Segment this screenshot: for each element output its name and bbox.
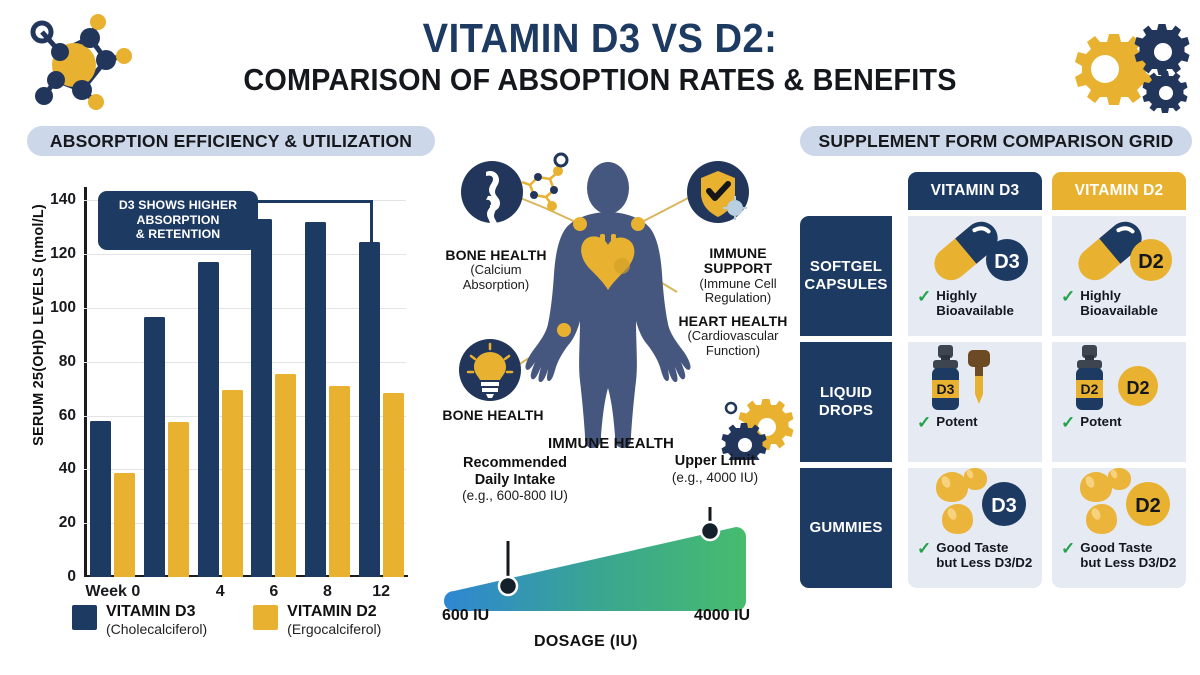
grid-row-label-line1: SOFTGEL	[810, 258, 882, 275]
label-bone-health-calcium: BONE HEALTH (Calcium Absorption)	[426, 248, 566, 292]
grid-cell-note: ✓Good Tastebut Less D3/D2	[1052, 540, 1176, 570]
section-header-grid: SUPPLEMENT FORM COMPARISON GRID	[800, 126, 1192, 156]
bar-d2	[383, 393, 404, 577]
callout-line-3: & RETENTION	[104, 227, 252, 242]
lightbulb-icon	[459, 339, 521, 401]
bar-d2	[329, 386, 350, 577]
dropper-bottle-icon: D3	[908, 342, 1042, 416]
bar-d3	[198, 262, 219, 577]
legend-sublabel-d2: (Ergocalciferol)	[287, 621, 381, 637]
grid-cell-d2[interactable]: D2 ✓HighlyBioavailable	[1052, 216, 1186, 336]
page-title-secondary: COMPARISON OF ABSOPTION RATES & BENEFITS	[228, 63, 972, 98]
bar-d3	[251, 219, 272, 577]
grid-cell-note: ✓HighlyBioavailable	[908, 288, 1014, 318]
check-icon: ✓	[1061, 288, 1075, 306]
svg-text:D3: D3	[994, 251, 1020, 273]
grid-cell-artwork: D2	[1052, 468, 1186, 542]
legend-swatch-d3	[72, 605, 97, 630]
bar-group	[251, 187, 296, 577]
grid-column-header-d3: VITAMIN D3	[908, 172, 1042, 210]
label-immune-support: IMMUNE SUPPORT (Immune Cell Regulation)	[676, 246, 800, 305]
grid-row-label-line2: DROPS	[819, 402, 873, 419]
y-tick-label: 100	[50, 299, 76, 317]
immune-support-sub1: (Immune Cell	[676, 277, 800, 291]
x-tick-label: 4	[216, 583, 225, 601]
dosage-upper-limit-annotation: Upper Limit (e.g., 4000 IU)	[650, 453, 780, 485]
bar-d2	[114, 473, 135, 577]
title-block: VITAMIN D3 VS D2: COMPARISON OF ABSOPTIO…	[200, 18, 1000, 98]
y-tick-label: 0	[67, 568, 76, 586]
bar-d3	[305, 222, 326, 577]
molecule-icon	[12, 8, 134, 118]
grid-cell-d2[interactable]: D2 ✓Good Tastebut Less D3/D2	[1052, 468, 1186, 588]
page-title-primary: VITAMIN D3 VS D2:	[228, 18, 972, 60]
chart-annotation-callout: D3 SHOWS HIGHER ABSORPTION & RETENTION	[98, 191, 258, 250]
bone-health-sub1: (Calcium	[426, 263, 566, 277]
grid-cell-note-text: Good Tastebut Less D3/D2	[936, 540, 1032, 570]
callout-leader-vertical	[370, 200, 373, 242]
bar-d3	[90, 421, 111, 577]
dosage-recommended-annotation: Recommended Daily Intake (e.g., 600-800 …	[440, 455, 590, 503]
legend-sublabel-d3: (Cholecalciferol)	[106, 621, 207, 637]
check-icon: ✓	[917, 414, 931, 432]
bone-health-title: BONE HEALTH	[426, 248, 566, 263]
y-tick-label: 140	[50, 191, 76, 209]
grid-cell-note-text: HighlyBioavailable	[936, 288, 1014, 318]
chart-legend: VITAMIN D3 (Cholecalciferol) VITAMIN D2 …	[72, 603, 412, 637]
grid-cell-d2[interactable]: D2 D2 ✓Potent	[1052, 342, 1186, 462]
legend-item-d2: VITAMIN D2 (Ergocalciferol)	[253, 603, 381, 637]
grid-cell-d3[interactable]: D3 ✓Good Tastebut Less D3/D2	[908, 468, 1042, 588]
bar-d2	[168, 422, 189, 577]
grid-cell-note-text: Potent	[1080, 414, 1121, 429]
upper-limit-line1: Upper Limit	[650, 453, 780, 470]
grid-cell-d3[interactable]: D3 ✓Potent	[908, 342, 1042, 462]
knee-joint-icon	[461, 161, 523, 224]
bar-d2	[222, 390, 243, 577]
upper-limit-sub: (e.g., 4000 IU)	[650, 470, 780, 485]
bar-d2	[275, 374, 296, 577]
gummies-icon: D3	[908, 468, 1042, 542]
grid-cell-note-text: HighlyBioavailable	[1080, 288, 1158, 318]
bone-health-sub2: Absorption)	[426, 278, 566, 292]
recommended-line2: Daily Intake	[440, 472, 590, 489]
x-tick-label: 6	[269, 583, 278, 601]
label-immune-health: IMMUNE HEALTH	[526, 436, 696, 453]
dosage-max-value: 4000 IU	[694, 607, 750, 625]
svg-text:D3: D3	[991, 495, 1017, 517]
legend-swatch-d2	[253, 605, 278, 630]
recommended-line1: Recommended	[440, 455, 590, 472]
grid-cell-artwork: D2	[1052, 216, 1186, 290]
legend-item-d3: VITAMIN D3 (Cholecalciferol)	[72, 603, 207, 637]
svg-text:D3: D3	[937, 381, 955, 397]
dosage-min-value: 600 IU	[442, 607, 489, 625]
dosage-scale: Recommended Daily Intake (e.g., 600-800 …	[430, 455, 800, 660]
svg-text:D2: D2	[1138, 251, 1164, 273]
immune-health-title: IMMUNE HEALTH	[526, 436, 696, 453]
check-icon: ✓	[1061, 414, 1075, 432]
svg-text:D2: D2	[1081, 381, 1099, 397]
shield-check-icon	[687, 161, 749, 223]
grid-cell-note-text: Potent	[936, 414, 977, 429]
x-tick-label: Week 0	[85, 583, 140, 601]
bar-d3	[144, 317, 165, 577]
heart-health-sub1: (Cardiovascular	[666, 329, 800, 343]
y-tick-label: 40	[59, 460, 76, 478]
legend-label-d3: VITAMIN D3	[106, 603, 207, 621]
grid-cell-note: ✓Potent	[1052, 414, 1122, 432]
y-tick-label: 20	[59, 514, 76, 532]
check-icon: ✓	[917, 540, 931, 558]
heart-health-title: HEART HEALTH	[666, 314, 800, 329]
grid-column-header-d2: VITAMIN D2	[1052, 172, 1186, 210]
header: VITAMIN D3 VS D2: COMPARISON OF ABSOPTIO…	[0, 0, 1200, 118]
grid-row-label: SOFTGELCAPSULES	[800, 216, 892, 336]
bone-health-2-title: BONE HEALTH	[428, 408, 558, 423]
heart-health-sub2: Function)	[666, 344, 800, 358]
dosage-axis-label: DOSAGE (IU)	[534, 633, 638, 651]
grid-cell-artwork: D3	[908, 468, 1042, 542]
grid-row-label-line1: LIQUID	[820, 384, 872, 401]
immune-support-title1: IMMUNE	[676, 246, 800, 261]
gears-icon	[1060, 14, 1190, 114]
grid-row-label-line2: CAPSULES	[804, 276, 887, 293]
capsule-icon: D2	[1052, 216, 1186, 290]
grid-row-label: GUMMIES	[800, 468, 892, 588]
bar-group	[305, 187, 350, 577]
grid-row-label: LIQUIDDROPS	[800, 342, 892, 462]
gummies-icon: D2	[1052, 468, 1186, 542]
grid-cell-note: ✓Good Tastebut Less D3/D2	[908, 540, 1032, 570]
supplement-comparison-grid: VITAMIN D3VITAMIN D2SOFTGELCAPSULES D3 ✓…	[800, 172, 1192, 652]
check-icon: ✓	[917, 288, 931, 306]
immune-support-title2: SUPPORT	[676, 261, 800, 276]
svg-text:D2: D2	[1135, 495, 1161, 517]
benefits-diagram: BONE HEALTH (Calcium Absorption) IMMUNE …	[430, 150, 800, 460]
recommended-sub: (e.g., 600-800 IU)	[440, 488, 590, 503]
callout-leader-horizontal	[246, 200, 370, 203]
section-header-absorption: ABSORPTION EFFICIENCY & UTILIZATION	[27, 126, 435, 156]
bar-d3	[359, 242, 380, 577]
grid-row-label-line1: GUMMIES	[809, 519, 882, 536]
callout-line-2: ABSORPTION	[104, 213, 252, 228]
y-tick-label: 80	[59, 353, 76, 371]
callout-line-1: D3 SHOWS HIGHER	[104, 198, 252, 213]
infographic-root: VITAMIN D3 VS D2: COMPARISON OF ABSOPTIO…	[0, 0, 1200, 675]
dosage-gradient-wedge	[430, 501, 800, 651]
grid-cell-note: ✓Potent	[908, 414, 978, 432]
grid-cell-artwork: D3	[908, 216, 1042, 290]
legend-label-d2: VITAMIN D2	[287, 603, 381, 621]
immune-support-sub2: Regulation)	[676, 291, 800, 305]
capsule-icon: D3	[908, 216, 1042, 290]
svg-text:D2: D2	[1126, 378, 1149, 398]
grid-cell-artwork: D2 D2	[1052, 342, 1186, 416]
bar-group	[359, 187, 404, 577]
x-tick-label: 8	[323, 583, 332, 601]
grid-cell-note-text: Good Tastebut Less D3/D2	[1080, 540, 1176, 570]
grid-cell-note: ✓HighlyBioavailable	[1052, 288, 1158, 318]
label-bone-health-2: BONE HEALTH	[428, 408, 558, 423]
check-icon: ✓	[1061, 540, 1075, 558]
y-tick-label: 120	[50, 245, 76, 263]
grid-cell-d3[interactable]: D3 ✓HighlyBioavailable	[908, 216, 1042, 336]
plot-area: 020406080100120140 Week 046812 D3 SHOWS …	[84, 187, 406, 577]
x-tick-label: 12	[372, 583, 390, 601]
absorption-chart: SERUM 25(OH)D LEVELS (nmol/L) 0204060801…	[0, 165, 440, 595]
y-tick-label: 60	[59, 407, 76, 425]
y-axis-label: SERUM 25(OH)D LEVELS (nmol/L)	[31, 190, 47, 460]
grid-cell-artwork: D3	[908, 342, 1042, 416]
label-heart-health: HEART HEALTH (Cardiovascular Function)	[666, 314, 800, 358]
dropper-bottle-icon: D2 D2	[1052, 342, 1186, 416]
